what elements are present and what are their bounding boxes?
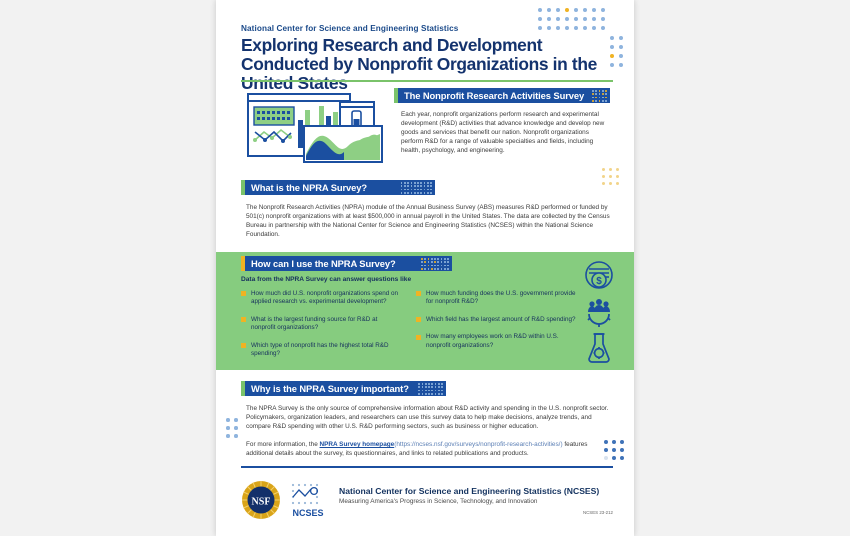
header-dot-pattern [592, 90, 607, 102]
eyebrow-text: National Center for Science and Engineer… [241, 24, 571, 33]
section-more-info-why: For more information, the NPRA Survey ho… [246, 440, 611, 458]
screenshot-canvas: National Center for Science and Engineer… [0, 0, 850, 536]
section-header-how-label: How can I use the NPRA Survey? [245, 258, 396, 269]
question-text: How much did U.S. nonprofit organization… [251, 290, 401, 307]
bullet-square-icon [241, 343, 246, 348]
section-header-what-label: What is the NPRA Survey? [245, 182, 367, 193]
questions-column-left: How much did U.S. nonprofit organization… [241, 290, 401, 367]
how-icon-stack: $ [581, 260, 625, 369]
question-text: How many employees work on R&D within U.… [426, 333, 576, 350]
section-header-survey: The Nonprofit Research Activities Survey [398, 88, 610, 103]
publication-code: NCSES 23-212 [583, 510, 613, 515]
right-edge-dot-cluster-bottom [604, 440, 628, 464]
header-dot-pattern [401, 182, 432, 194]
bullet-square-icon [416, 291, 421, 296]
section-body-what: The Nonprofit Research Activities (NPRA)… [246, 203, 611, 239]
footer-divider [241, 466, 613, 468]
questions-column-right: How much funding does the U.S. governmen… [416, 290, 576, 359]
svg-text:NSF: NSF [252, 497, 271, 508]
ncses-wordmark: NCSES [292, 508, 323, 518]
how-subheading: Data from the NPRA Survey can answer que… [241, 276, 411, 283]
bullet-square-icon [241, 317, 246, 322]
question-text: What is the largest funding source for R… [251, 316, 401, 333]
bullet-square-icon [241, 291, 246, 296]
bullet-square-icon [416, 317, 421, 322]
section-body-survey: Each year, nonprofit organizations perfo… [401, 110, 606, 155]
question-text: How much funding does the U.S. governmen… [426, 290, 576, 307]
research-illustration [240, 88, 388, 166]
right-edge-dot-cluster-top [602, 168, 623, 189]
page-title: Exploring Research and Development Condu… [241, 36, 613, 93]
section-header-how: How can I use the NPRA Survey? [245, 256, 452, 271]
footer: NSF NCSES National Center for Science an… [241, 478, 613, 526]
question-text: Which type of nonprofit has the highest … [251, 342, 401, 359]
section-header-what: What is the NPRA Survey? [245, 180, 435, 195]
left-edge-dot-cluster [226, 418, 242, 442]
bullet-square-icon [416, 335, 421, 340]
svg-text:$: $ [596, 276, 602, 287]
factsheet-page: National Center for Science and Engineer… [216, 0, 634, 536]
header-dot-pattern [418, 383, 443, 395]
list-item: How many employees work on R&D within U.… [416, 333, 576, 350]
list-item: Which field has the largest amount of R&… [416, 316, 576, 324]
more-info-prefix: For more information, the [246, 441, 320, 448]
title-divider [241, 80, 613, 82]
more-info-url: (https://ncses.nsf.gov/surveys/nonprofit… [394, 441, 562, 448]
list-item: How much did U.S. nonprofit organization… [241, 290, 401, 307]
footer-title: National Center for Science and Engineer… [339, 486, 599, 496]
ncses-logo: NCSES [289, 482, 327, 523]
nsf-logo: NSF [241, 480, 281, 525]
section-header-why: Why is the NPRA Survey important? [245, 381, 446, 396]
section-body-why: The NPRA Survey is the only source of co… [246, 404, 611, 431]
list-item: Which type of nonprofit has the highest … [241, 342, 401, 359]
list-item: What is the largest funding source for R… [241, 316, 401, 333]
footer-subtitle: Measuring America's Progress in Science,… [339, 498, 599, 505]
npra-survey-homepage-link[interactable]: NPRA Survey homepage [320, 441, 395, 448]
section-header-survey-label: The Nonprofit Research Activities Survey [398, 90, 584, 101]
header-dot-pattern [421, 258, 449, 270]
question-text: Which field has the largest amount of R&… [426, 316, 575, 324]
list-item: How much funding does the U.S. governmen… [416, 290, 576, 307]
section-header-why-label: Why is the NPRA Survey important? [245, 383, 409, 394]
